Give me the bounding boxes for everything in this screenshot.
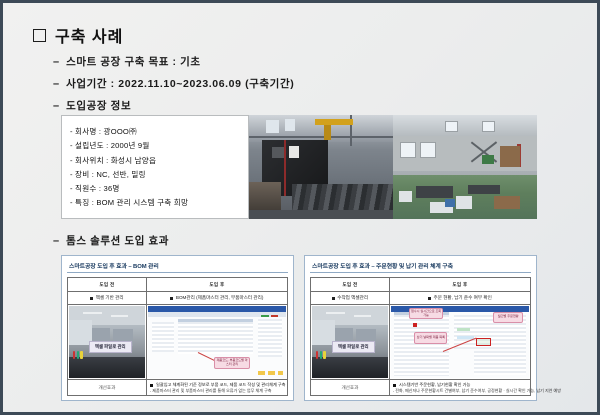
square-bullet-icon	[33, 29, 46, 42]
page-title-text: 구축 사례	[55, 23, 123, 47]
effect-panel-group: 스마트공장 도입 후 효과 – BOM 관리 도입 전 도입 후 엑셀 기반 관…	[61, 255, 537, 401]
office-excel-photo: 엑셀 파일로 관리	[69, 306, 145, 378]
table-subtitle-row: 엑셀 기반 관리 BOM관리 (제품마스터 관리, 부품마스터 관리)	[68, 292, 287, 305]
action-button[interactable]	[258, 371, 265, 375]
bullet-factory-info-text: 도입공장 정보	[66, 99, 131, 113]
bullet-period: – 사업기간 : 2022.11.10~2023.06.09 (구축기간)	[53, 77, 294, 91]
column-header-after: 도입 후	[147, 278, 287, 291]
effect-panel-order: 스마트공장 도입 후 효과 – 주문현황 및 납기 관리 체계 구축 도입 전 …	[304, 255, 537, 401]
improvement-line: 일괄입고 체계화된 기준 정보로 부품 코드, 제품 코드 작성 및 관리체계 …	[150, 382, 284, 387]
data-grid	[178, 322, 253, 354]
square-bullet-icon	[393, 384, 396, 387]
photo-annotation-label: 엑셀 파일로 관리	[332, 341, 375, 354]
summary-grid	[474, 351, 526, 376]
column-header-before: 도입 전	[68, 278, 147, 291]
machine-red-stripe	[284, 140, 286, 196]
improvement-line-text: 시스템기반 주문현황, 납기현황 확인 가능	[399, 382, 470, 387]
before-photo-cell: 엑셀 파일로 관리	[311, 305, 390, 379]
status-chip	[261, 315, 269, 317]
panel-table: 도입 전 도입 후 수작업 액셀관리 주문 현황, 납기 준수 여부 확인	[310, 277, 531, 396]
order-status-screenshot: 접수시 실시간으로 조회 가능 납기 날짜별 제품 목록 월간별 주문현황	[391, 306, 529, 378]
factory-photo-group	[249, 115, 537, 219]
bullet-solution-effect: – 톰스 솔루션 도입 효과	[53, 234, 169, 248]
subtitle-before-text: 엑셀 기반 관리	[96, 295, 124, 301]
bullet-goal: – 스마트 공장 구축 목표 : 기초	[53, 55, 201, 69]
dash-icon: –	[53, 55, 59, 69]
table-body-row: 엑셀 파일로 관리	[68, 305, 287, 380]
factory-machining-shop-photo	[249, 115, 393, 219]
page-title: 구축 사례	[33, 23, 123, 47]
highlight-cell	[457, 328, 469, 331]
photo-window	[400, 142, 416, 158]
improvement-label: 개선효과	[68, 380, 147, 395]
photo-window	[445, 121, 458, 131]
company-info-line: - 회사명 : 광OOO㈜	[70, 125, 248, 139]
callout-bubble: 접수시 실시간으로 조회 가능	[409, 308, 444, 319]
callout-bubble: 납기 날짜별 제품 목록	[414, 332, 447, 344]
office-desk	[69, 357, 145, 379]
company-info-box: - 회사명 : 광OOO㈜ - 설립년도 : 2000년 9월 - 회사위치 :…	[61, 115, 249, 219]
white-box	[456, 196, 472, 208]
square-bullet-icon	[170, 297, 173, 300]
desk-item	[316, 351, 318, 360]
company-info-line: - 직원수 : 36명	[70, 182, 248, 196]
column-header-before: 도입 전	[311, 278, 390, 291]
table-subtitle-row: 수작업 액셀관리 주문 현황, 납기 준수 여부 확인	[311, 292, 530, 305]
improvement-text: 시스템기반 주문현황, 납기현황 확인 가능 - 전화, 메신저나 주문현황시트…	[390, 380, 530, 395]
subtitle-before: 엑셀 기반 관리	[68, 292, 147, 304]
blue-drum	[445, 199, 455, 206]
order-list-grid	[394, 315, 449, 376]
company-info-line: - 설립년도 : 2000년 9월	[70, 139, 248, 153]
work-table	[468, 185, 500, 194]
desk-item	[73, 351, 75, 360]
bom-software-screenshot: 제품코드, 부품코드별 마스터 관리	[148, 306, 286, 378]
action-button[interactable]	[278, 371, 284, 375]
green-machine	[482, 155, 494, 164]
square-bullet-icon	[90, 297, 93, 300]
company-info-line: - 특징 : BOM 관리 시스템 구축 희망	[70, 196, 248, 210]
action-button[interactable]	[268, 371, 275, 375]
desk-item	[323, 351, 325, 360]
machine-notice-paper	[289, 146, 299, 157]
photo-floor	[249, 210, 393, 219]
subtitle-after-text: 주문 현황, 납기 준수 여부 확인	[433, 295, 491, 301]
office-excel-photo: 엑셀 파일로 관리	[312, 306, 388, 378]
improvement-row: 개선효과 일괄입고 체계화된 기준 정보로 부품 코드, 제품 코드 작성 및 …	[68, 380, 287, 395]
factory-info-band: - 회사명 : 광OOO㈜ - 설립년도 : 2000년 9월 - 회사위치 :…	[61, 115, 537, 219]
ceiling-lamp	[326, 312, 346, 314]
factory-assembly-shop-photo	[393, 115, 537, 219]
column-header-after: 도입 후	[390, 278, 530, 291]
work-table	[416, 186, 453, 198]
photo-window	[266, 120, 279, 132]
red-focus-box	[476, 338, 490, 346]
ceiling-lamp	[83, 312, 103, 314]
dash-icon: –	[53, 99, 59, 113]
subtitle-before-text: 수작업 액셀관리	[337, 295, 368, 301]
ceiling-lamp	[111, 315, 128, 317]
panel-heading: 스마트공장 도입 후 효과 – BOM 관리	[67, 260, 288, 273]
office-desk	[312, 357, 388, 379]
desk-item	[80, 351, 82, 360]
detail-panel	[258, 319, 281, 357]
rust-plate	[494, 196, 520, 208]
subtitle-after: BOM관리 (제품마스터 관리, 부품마스터 관리)	[147, 292, 287, 304]
tree-panel	[152, 322, 174, 352]
slide-canvas: 구축 사례 – 스마트 공장 구축 목표 : 기초 – 사업기간 : 2022.…	[3, 3, 597, 412]
improvement-line: - 제품마스터 관리 및 부품마스터 관리를 통해 오류가 없는 업무 체계 구…	[150, 388, 284, 393]
square-bullet-icon	[428, 297, 431, 300]
bullet-goal-text: 스마트 공장 구축 목표 : 기초	[66, 55, 201, 69]
white-box	[399, 191, 412, 202]
subtitle-after-text: BOM관리 (제품마스터 관리, 부품마스터 관리)	[176, 295, 264, 301]
photo-beam	[249, 136, 393, 138]
after-software-cell: 제품코드, 부품코드별 마스터 관리	[147, 305, 287, 379]
dash-icon: –	[53, 234, 59, 248]
improvement-text: 일괄입고 체계화된 기준 정보로 부품 코드, 제품 코드 작성 및 관리체계 …	[147, 380, 287, 395]
bullet-period-text: 사업기간 : 2022.11.10~2023.06.09 (구축기간)	[66, 77, 294, 91]
photo-annotation-label: 엑셀 파일로 관리	[89, 341, 132, 354]
table-header-row: 도입 전 도입 후	[68, 278, 287, 292]
tool-shelf	[249, 182, 281, 213]
subtitle-after: 주문 현황, 납기 준수 여부 확인	[390, 292, 530, 304]
desk-item	[77, 351, 79, 360]
bullet-solution-effect-text: 톰스 솔루션 도입 효과	[66, 234, 169, 248]
overhead-crane	[315, 119, 352, 125]
before-photo-cell: 엑셀 파일로 관리	[68, 305, 147, 379]
bullet-factory-info: – 도입공장 정보	[53, 99, 131, 113]
photo-window	[285, 119, 295, 130]
callout-bubble: 제품코드, 부품코드별 마스터 관리	[214, 357, 250, 369]
company-info-line: - 장비 : NC, 선반, 밀링	[70, 168, 248, 182]
ceiling-lamp	[354, 315, 371, 317]
improvement-label: 개선효과	[311, 380, 390, 395]
panel-heading: 스마트공장 도입 후 효과 – 주문현황 및 납기 관리 체계 구축	[310, 260, 531, 273]
desk-item	[320, 351, 322, 360]
callout-bubble: 월간별 주문현황	[493, 312, 523, 323]
effect-panel-bom: 스마트공장 도입 후 효과 – BOM 관리 도입 전 도입 후 엑셀 기반 관…	[61, 255, 294, 401]
crane-hoist	[324, 125, 331, 140]
photo-roof	[393, 115, 537, 138]
alert-marker	[413, 323, 417, 327]
dash-icon: –	[53, 77, 59, 91]
improvement-line-text: 일괄입고 체계화된 기준 정보로 부품 코드, 제품 코드 작성 및 관리체계 …	[156, 382, 286, 387]
company-info-line: - 회사위치 : 화성시 남양읍	[70, 154, 248, 168]
photo-window	[482, 121, 495, 131]
table-header-row: 도입 전 도입 후	[311, 278, 530, 292]
after-software-cell: 접수시 실시간으로 조회 가능 납기 날짜별 제품 목록 월간별 주문현황	[390, 305, 530, 379]
square-bullet-icon	[150, 384, 153, 387]
stacked-plates	[500, 146, 520, 167]
status-chip	[271, 315, 278, 317]
improvement-row: 개선효과 시스템기반 주문현황, 납기현황 확인 가능 - 전화, 메신저나 주…	[311, 380, 530, 395]
subtitle-before: 수작업 액셀관리	[311, 292, 390, 304]
table-body-row: 엑셀 파일로 관리	[311, 305, 530, 380]
photo-window	[420, 142, 436, 158]
improvement-line: - 전화, 메신저나 주문현황시트 건별여부, 납기 준수여부, 공정현황 · …	[393, 388, 527, 393]
square-bullet-icon	[332, 297, 335, 300]
panel-table: 도입 전 도입 후 엑셀 기반 관리 BOM관리 (제품마스터 관리, 부품마스…	[67, 277, 288, 396]
